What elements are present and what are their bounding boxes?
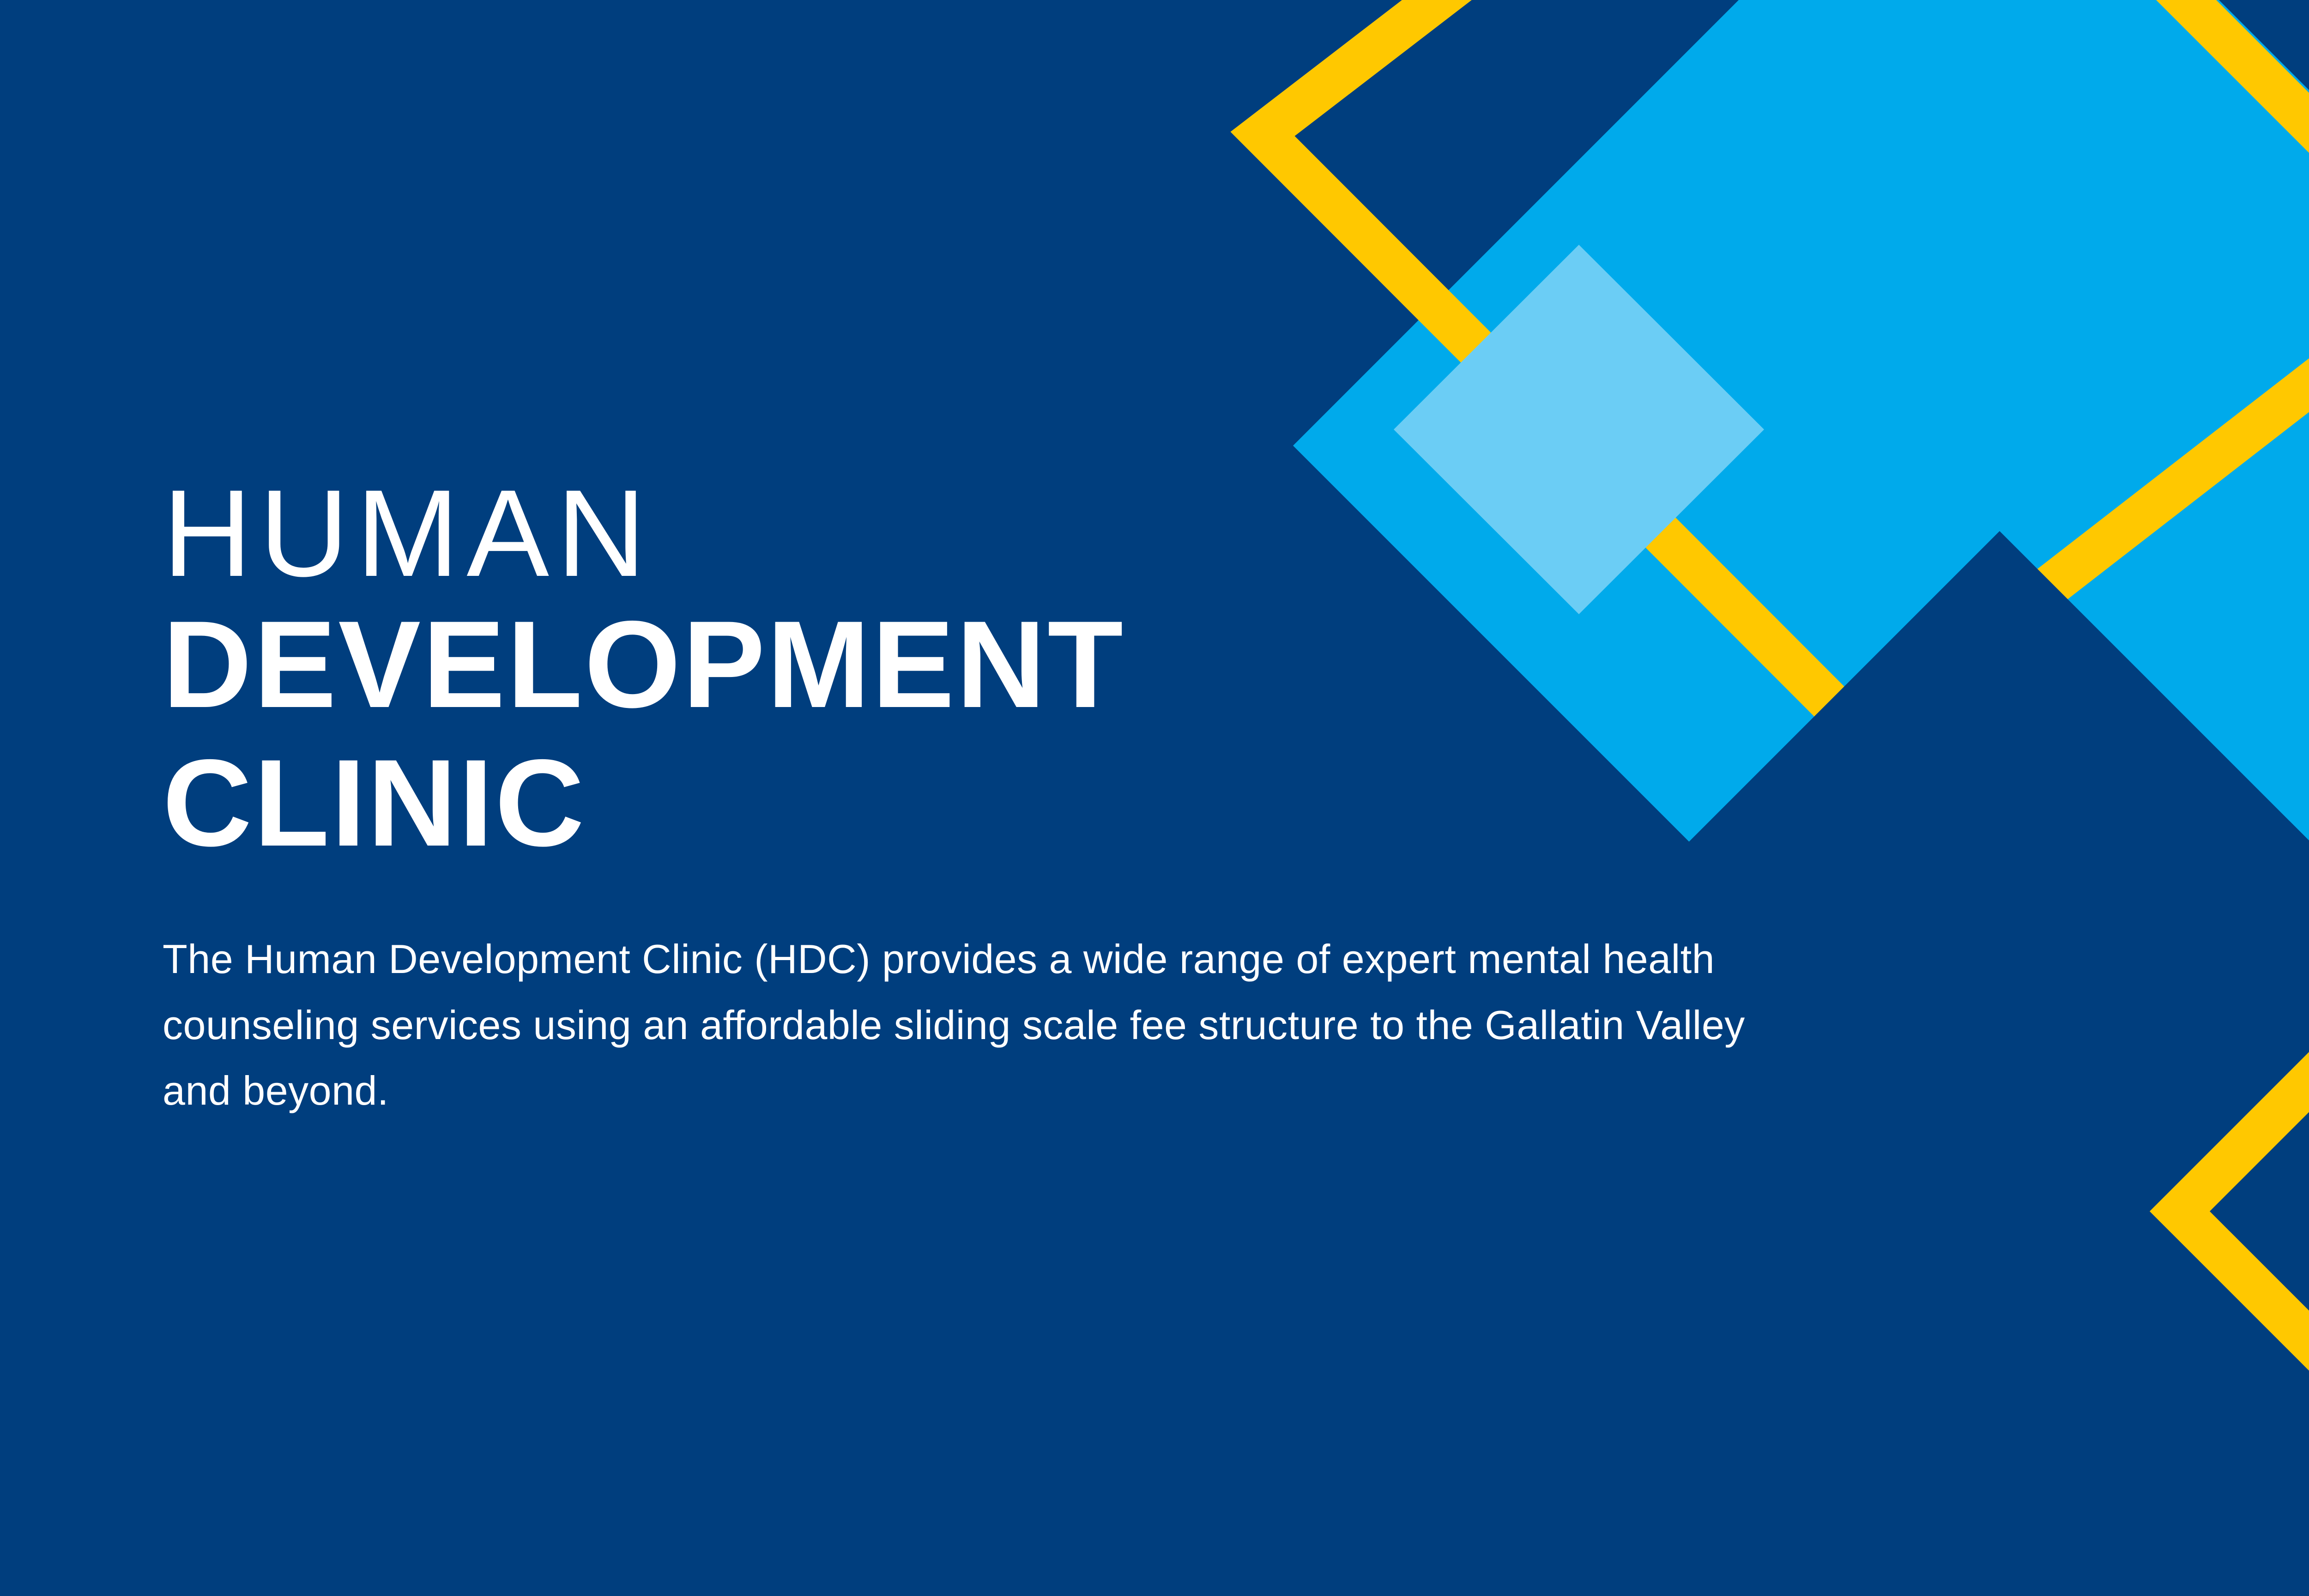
page-title-line-1: HUMAN: [163, 471, 1825, 595]
hdc-promo-banner: HUMAN DEVELOPMENT CLINIC The Human Devel…: [0, 0, 2309, 1596]
page-title-line-3: CLINIC: [163, 733, 1825, 872]
page-title-line-2: DEVELOPMENT: [163, 595, 1825, 733]
banner-description: The Human Development Clinic (HDC) provi…: [163, 926, 1756, 1124]
banner-text-block: HUMAN DEVELOPMENT CLINIC The Human Devel…: [163, 471, 1825, 1124]
